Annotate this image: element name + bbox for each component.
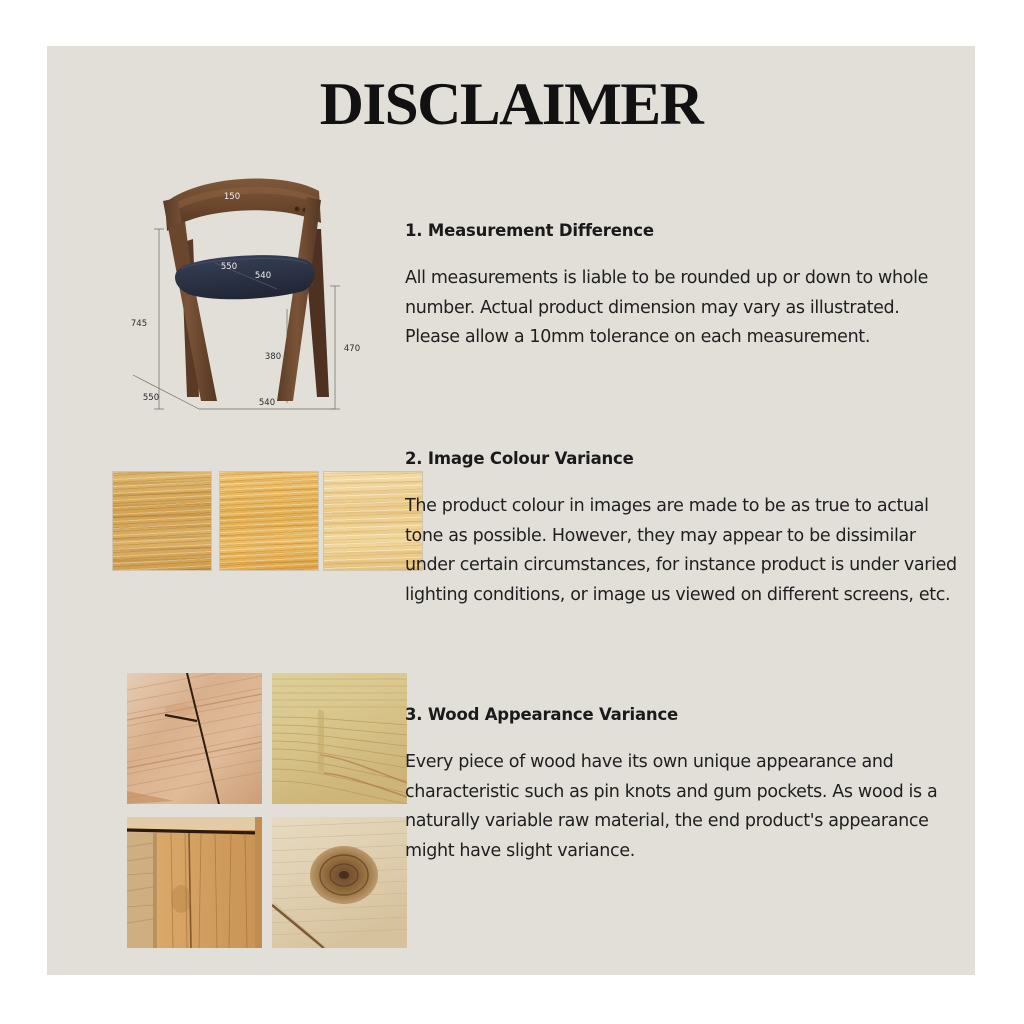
photo-wood-joint-seam	[127, 817, 262, 948]
dim-label-150: 150	[224, 192, 240, 202]
wood-colour-swatches	[112, 471, 424, 571]
page-title: DISCLAIMER	[38, 74, 985, 134]
swatch-oak-natural	[112, 471, 212, 571]
section-measurement-difference: 1. Measurement Difference All measuremen…	[405, 221, 957, 353]
section-2-body: The product colour in images are made to…	[405, 492, 965, 610]
section-image-colour-variance: 2. Image Colour Variance The product col…	[405, 449, 965, 610]
section-3-heading: 3. Wood Appearance Variance	[405, 705, 965, 724]
dim-label-745: 745	[131, 319, 147, 329]
wood-appearance-photo-grid	[127, 673, 407, 948]
disclaimer-page: DISCLAIMER	[0, 0, 1024, 1024]
dim-label-550-depth: 550	[143, 393, 159, 403]
section-wood-appearance-variance: 3. Wood Appearance Variance Every piece …	[405, 705, 965, 866]
dim-label-540-seat: 540	[255, 271, 271, 281]
dim-label-380: 380	[265, 352, 281, 362]
section-3-body: Every piece of wood have its own unique …	[405, 748, 965, 866]
photo-wood-large-knot	[272, 817, 407, 948]
section-1-body: All measurements is liable to be rounded…	[405, 264, 957, 353]
swatch-oak-golden	[219, 471, 319, 571]
dim-label-550-seat: 550	[221, 262, 237, 272]
swatch-grain-texture	[220, 472, 318, 570]
dim-label-470: 470	[344, 344, 360, 354]
photo-wood-grain-gum-streak	[272, 673, 407, 804]
dim-label-540-width: 540	[259, 398, 275, 408]
chair-dimension-diagram: 745 150 550 540 380 470 550 540	[107, 151, 397, 411]
section-2-heading: 2. Image Colour Variance	[405, 449, 965, 468]
section-1-heading: 1. Measurement Difference	[405, 221, 957, 240]
swatch-grain-texture	[113, 472, 211, 570]
disclaimer-card: DISCLAIMER	[47, 46, 975, 975]
photo-wood-pin-knot-crack	[127, 673, 262, 804]
